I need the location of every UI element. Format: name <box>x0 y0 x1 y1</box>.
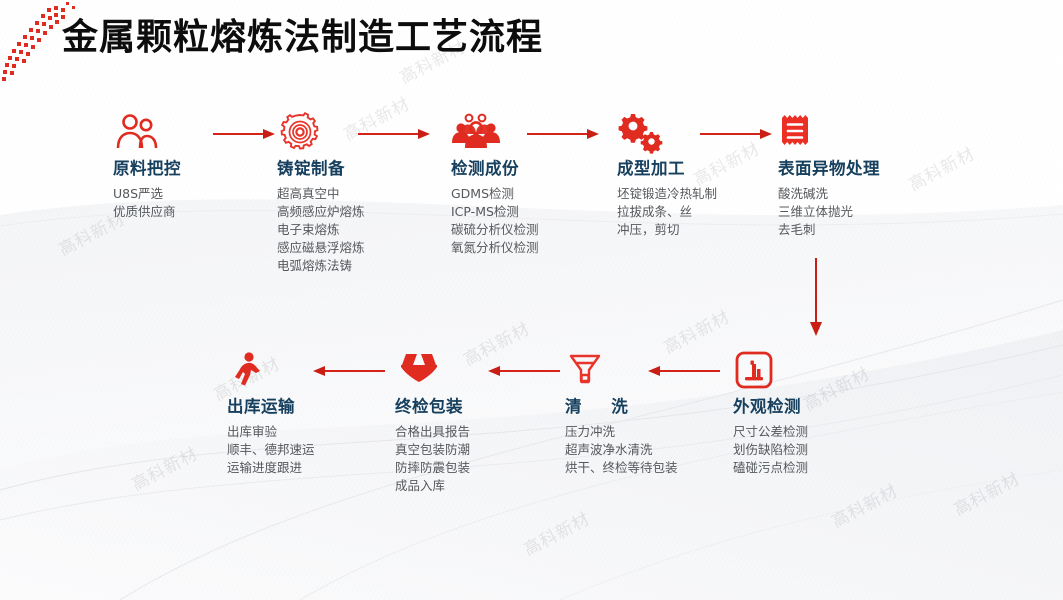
step-item: 电子束熔炼 <box>277 221 365 239</box>
step-item: 成品入库 <box>395 477 470 495</box>
process-step-3[interactable]: 检测成份 GDMS检测 ICP-MS检测 碳硫分析仪检测 氧氮分析仪检测 <box>451 112 539 257</box>
step-item: 三维立体抛光 <box>778 203 880 221</box>
step-item: 酸洗碱洗 <box>778 185 880 203</box>
step-item: 高频感应炉熔炼 <box>277 203 365 221</box>
step-title: 表面异物处理 <box>778 158 880 180</box>
step-item: 去毛刺 <box>778 221 880 239</box>
step-item: 压力冲洗 <box>565 423 685 441</box>
step-item: 冲压，剪切 <box>617 221 717 239</box>
step-items: GDMS检测 ICP-MS检测 碳硫分析仪检测 氧氮分析仪检测 <box>451 185 539 257</box>
step-item: 感应磁悬浮熔炼 <box>277 239 365 257</box>
process-step-1[interactable]: 原料把控 U8S严选 优质供应商 <box>113 112 181 221</box>
step-item: 真空包装防潮 <box>395 441 470 459</box>
arrow-step8-to-step9 <box>313 363 385 379</box>
step-item: 碳硫分析仪检测 <box>451 221 539 239</box>
step-item: 运输进度跟进 <box>227 459 315 477</box>
step-item: 电弧熔炼法铸 <box>277 257 365 275</box>
open-box-icon <box>395 350 443 392</box>
walking-person-icon <box>227 350 267 392</box>
step-item: U8S严选 <box>113 185 181 203</box>
step-title: 成型加工 <box>617 158 717 180</box>
arrow-step5-to-step6 <box>806 258 826 338</box>
step-items: 压力冲洗 超声波净水清洗 烘干、终检等待包装 <box>565 423 685 477</box>
step-title: 清 洗 <box>565 396 685 418</box>
step-item: 坯锭锻造冷热轧制 <box>617 185 717 203</box>
process-flow-diagram: 原料把控 U8S严选 优质供应商 铸锭制备 超高真空中 高频感应炉熔炼 电子束熔… <box>0 0 1063 600</box>
step-title: 原料把控 <box>113 158 181 180</box>
process-step-7[interactable]: 清 洗 压力冲洗 超声波净水清洗 烘干、终检等待包装 <box>565 350 685 477</box>
step-item: 拉拔成条、丝 <box>617 203 717 221</box>
step-item: ICP-MS检测 <box>451 203 539 221</box>
arrow-step2-to-step3 <box>358 126 430 142</box>
arrow-step7-to-step8 <box>488 363 560 379</box>
step-items: 合格出具报告 真空包装防潮 防摔防震包装 成品入库 <box>395 423 470 495</box>
step-item: 超声波净水清洗 <box>565 441 685 459</box>
step-items: 出库审验 顺丰、德邦速运 运输进度跟进 <box>227 423 315 477</box>
step-items: U8S严选 优质供应商 <box>113 185 181 221</box>
step-items: 尺寸公差检测 划伤缺陷检测 磕碰污点检测 <box>733 423 808 477</box>
step-title: 检测成份 <box>451 158 539 180</box>
step-item: 超高真空中 <box>277 185 365 203</box>
funnel-icon <box>565 350 605 392</box>
document-lines-icon <box>778 112 812 154</box>
step-item: 划伤缺陷检测 <box>733 441 808 459</box>
process-step-6[interactable]: 外观检测 尺寸公差检测 划伤缺陷检测 磕碰污点检测 <box>733 350 808 477</box>
gear-spiral-icon <box>277 112 323 154</box>
step-title: 外观检测 <box>733 396 808 418</box>
double-gear-icon <box>617 112 665 154</box>
step-item: 氧氮分析仪检测 <box>451 239 539 257</box>
process-step-4[interactable]: 成型加工 坯锭锻造冷热轧制 拉拔成条、丝 冲压，剪切 <box>617 112 717 239</box>
step-items: 超高真空中 高频感应炉熔炼 电子束熔炼 感应磁悬浮熔炼 电弧熔炼法铸 <box>277 185 365 275</box>
step-title: 铸锭制备 <box>277 158 365 180</box>
step-item: 顺丰、德邦速运 <box>227 441 315 459</box>
step-item: 合格出具报告 <box>395 423 470 441</box>
step-item: 尺寸公差检测 <box>733 423 808 441</box>
two-people-icon <box>113 112 163 154</box>
microscope-box-icon <box>733 350 775 392</box>
process-step-9[interactable]: 出库运输 出库审验 顺丰、德邦速运 运输进度跟进 <box>227 350 315 477</box>
step-item: 磕碰污点检测 <box>733 459 808 477</box>
step-item: 防摔防震包装 <box>395 459 470 477</box>
people-group-icon <box>451 112 501 154</box>
step-title: 终检包装 <box>395 396 470 418</box>
process-step-5[interactable]: 表面异物处理 酸洗碱洗 三维立体抛光 去毛刺 <box>778 112 880 239</box>
step-items: 酸洗碱洗 三维立体抛光 去毛刺 <box>778 185 880 239</box>
step-title: 出库运输 <box>227 396 315 418</box>
page-title: 金属颗粒熔炼法制造工艺流程 <box>62 8 543 60</box>
step-items: 坯锭锻造冷热轧制 拉拔成条、丝 冲压，剪切 <box>617 185 717 239</box>
step-item: 烘干、终检等待包装 <box>565 459 685 477</box>
step-item: 优质供应商 <box>113 203 181 221</box>
step-item: GDMS检测 <box>451 185 539 203</box>
process-step-8[interactable]: 终检包装 合格出具报告 真空包装防潮 防摔防震包装 成品入库 <box>395 350 470 495</box>
step-item: 出库审验 <box>227 423 315 441</box>
arrow-step1-to-step2 <box>213 126 275 142</box>
process-step-2[interactable]: 铸锭制备 超高真空中 高频感应炉熔炼 电子束熔炼 感应磁悬浮熔炼 电弧熔炼法铸 <box>277 112 365 275</box>
